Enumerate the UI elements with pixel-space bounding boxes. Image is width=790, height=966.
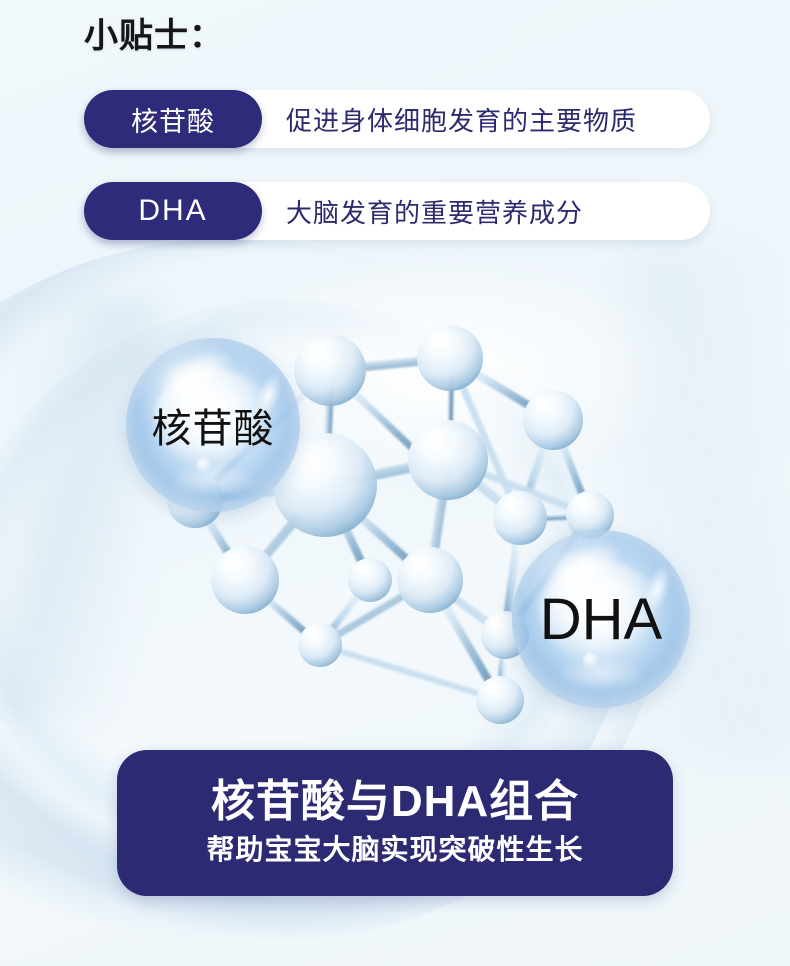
bubble-highlight-bottom — [171, 463, 255, 494]
bottom-banner: 核苷酸与DHA组合 帮助宝宝大脑实现突破性生长 — [117, 750, 673, 896]
molecule-network-icon — [0, 250, 790, 750]
info-row-dha: DHA 大脑发育的重要营养成分 — [84, 182, 710, 240]
bubble-label-nucleotide: 核苷酸 — [152, 396, 275, 454]
bubble-label-dha: DHA — [540, 586, 662, 653]
banner-subtitle: 帮助宝宝大脑实现突破性生长 — [206, 830, 583, 870]
promo-page: 小贴士： 核苷酸 促进身体细胞发育的主要物质 DHA 大脑发育的重要营养成分 — [0, 0, 790, 966]
info-description-nucleotide: 促进身体细胞发育的主要物质 — [262, 101, 710, 138]
info-description-dha: 大脑发育的重要营养成分 — [262, 193, 710, 230]
bubble-highlight-dot — [196, 458, 212, 474]
banner-title: 核苷酸与DHA组合 — [211, 776, 579, 828]
molecule-illustration: 核苷酸 DHA — [0, 250, 790, 750]
page-title: 小贴士： — [84, 12, 224, 60]
pill-label-dha: DHA — [84, 182, 262, 240]
bubble-highlight-dot — [583, 653, 599, 669]
info-row-nucleotide: 核苷酸 促进身体细胞发育的主要物质 — [84, 90, 710, 148]
bubble-nucleotide: 核苷酸 — [126, 338, 300, 512]
pill-label-nucleotide: 核苷酸 — [84, 90, 262, 148]
bubble-highlight-bottom — [558, 658, 643, 690]
bubble-dha: DHA — [512, 530, 690, 708]
